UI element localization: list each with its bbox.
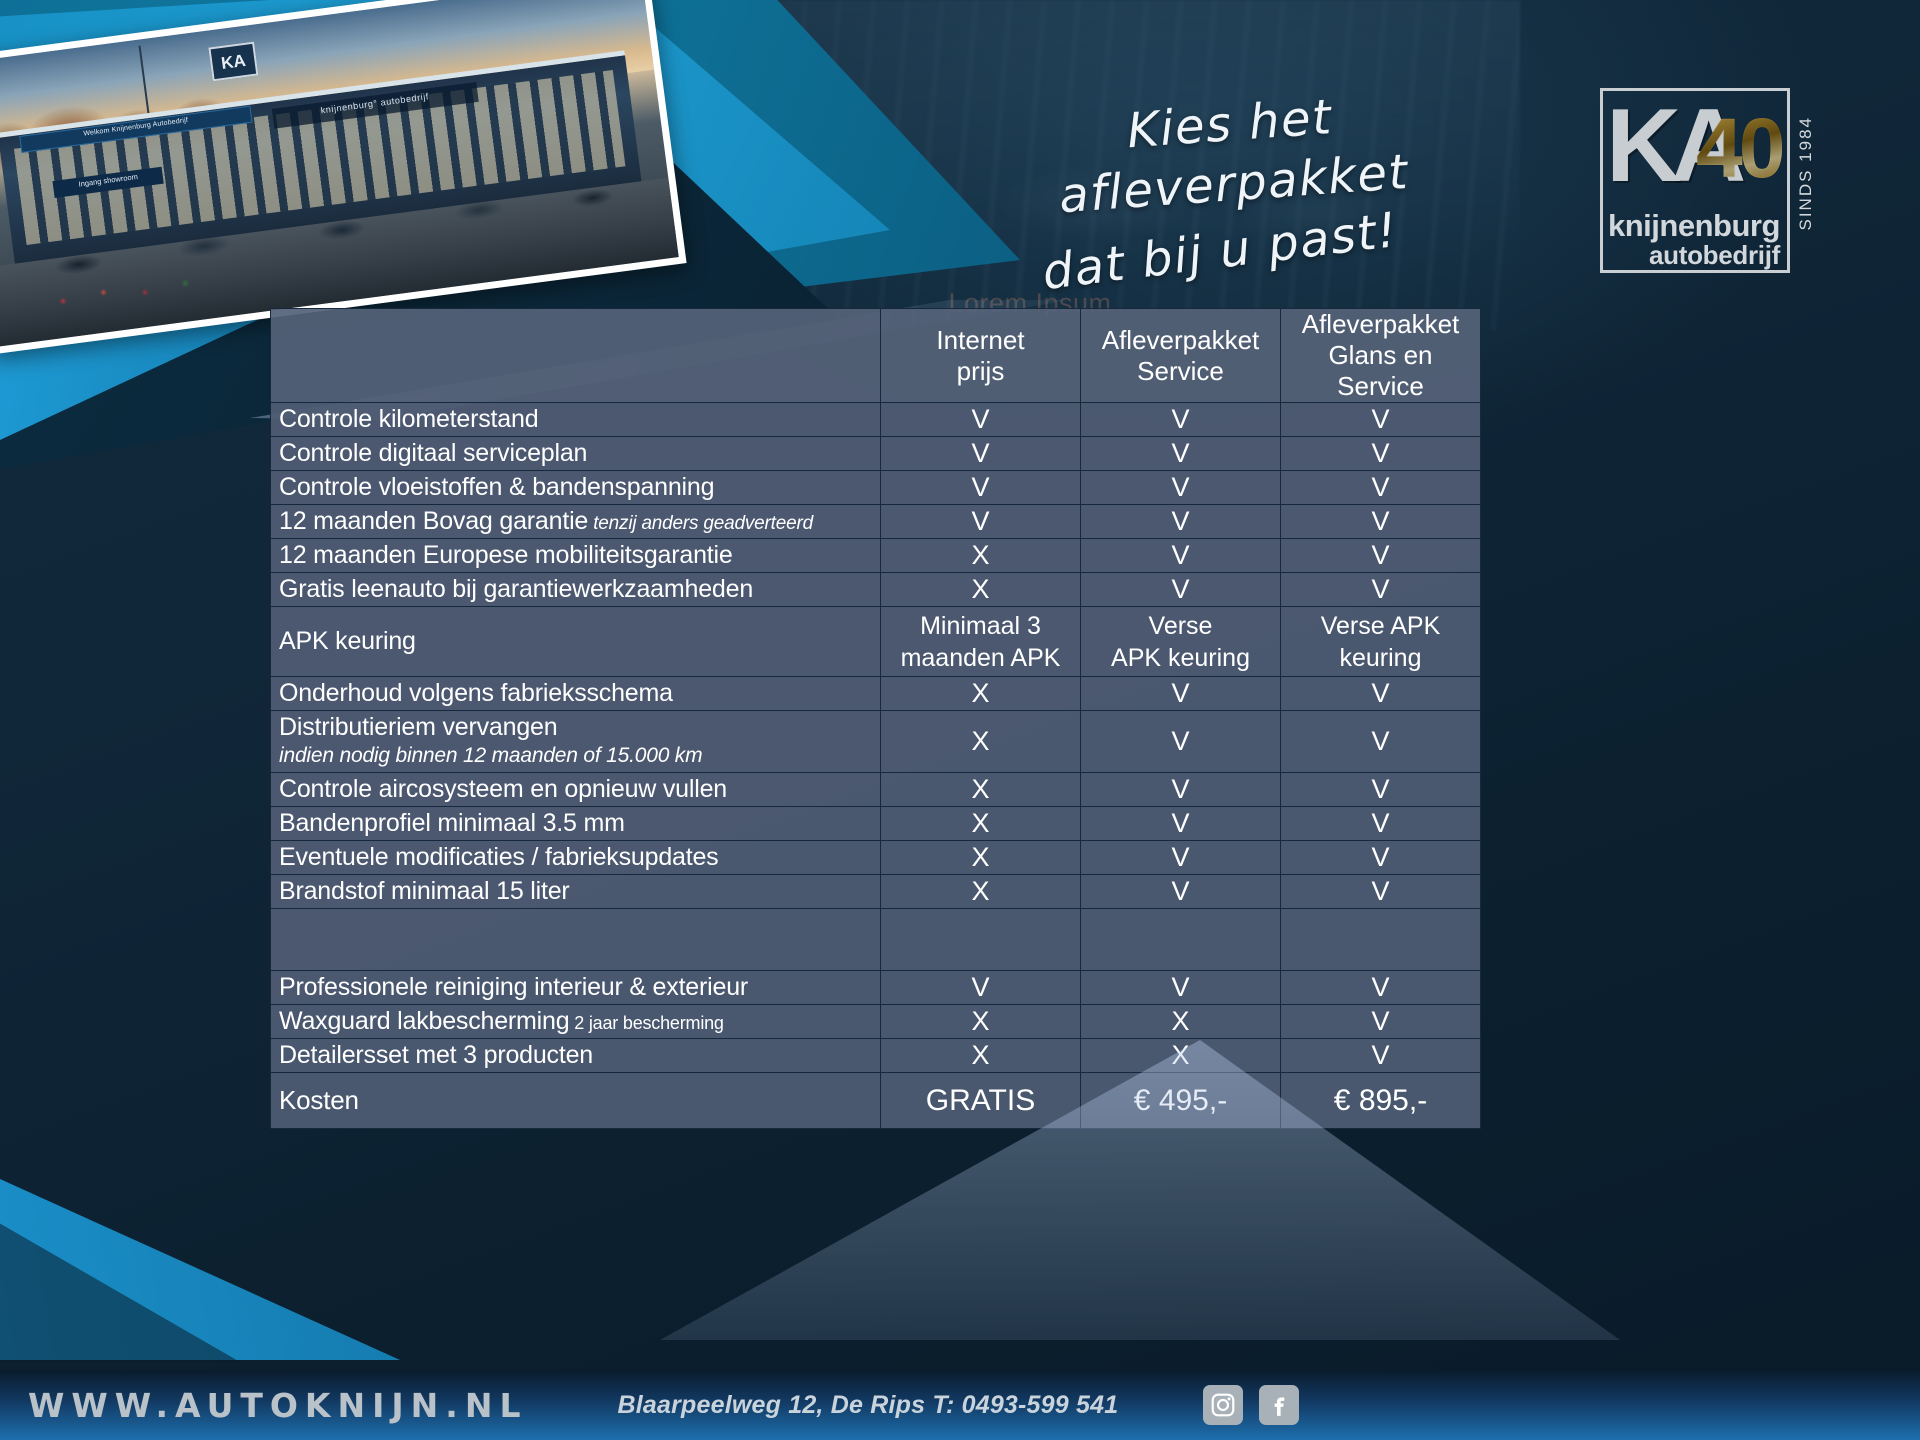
- table-row-label: Professionele reiniging interieur & exte…: [271, 971, 881, 1005]
- row-label-text: Gratis leenauto bij garantiewerkzaamhede…: [279, 575, 753, 603]
- cross-mark-cell: X: [881, 1005, 1081, 1039]
- logo-company-name: knijnenburg: [1608, 210, 1786, 242]
- row-label-text: Onderhoud volgens fabrieksschema: [279, 679, 673, 707]
- footer-address-phone: Blaarpeelweg 12, De Rips T: 0493-599 541: [617, 1391, 1118, 1420]
- row-label-text: Controle kilometerstand: [279, 405, 538, 433]
- row-label-text: Distributieriem vervangen: [279, 713, 557, 741]
- table-row: Controle aircosysteem en opnieuw vullenX…: [271, 773, 1481, 807]
- header-afleverpakket-service: Afleverpakket Service: [1081, 309, 1281, 403]
- table-row-label: Controle aircosysteem en opnieuw vullen: [271, 773, 881, 807]
- table-head: Internet prijs Afleverpakket Service Afl…: [271, 309, 1481, 403]
- header-internet-prijs-line1: Internet: [889, 325, 1072, 356]
- cross-mark-cell: X: [881, 773, 1081, 807]
- check-mark-cell: V: [1081, 505, 1281, 539]
- cross-mark-cell: X: [881, 711, 1081, 773]
- check-mark-cell: V: [1281, 807, 1481, 841]
- table-row-label: Distributieriem vervangenindien nodig bi…: [271, 711, 881, 773]
- cost-cell: GRATIS: [881, 1073, 1081, 1129]
- table-row: Onderhoud volgens fabrieksschemaXVV: [271, 677, 1481, 711]
- cross-mark-cell: X: [881, 807, 1081, 841]
- check-mark-cell: V: [1281, 971, 1481, 1005]
- table-row-label: Controle kilometerstand: [271, 403, 881, 437]
- table-row-label: Onderhoud volgens fabrieksschema: [271, 677, 881, 711]
- table-text-cell-line: maanden APK: [889, 642, 1072, 674]
- check-mark-cell: V: [1281, 1039, 1481, 1073]
- check-mark-cell: V: [1081, 403, 1281, 437]
- header-internet-prijs-line2: prijs: [889, 356, 1072, 387]
- row-label-text: Professionele reiniging interieur & exte…: [279, 973, 748, 1001]
- check-mark-cell: V: [1081, 539, 1281, 573]
- check-mark-cell: V: [1281, 471, 1481, 505]
- table-text-cell-line: keuring: [1289, 642, 1472, 674]
- header-glans-line1: Afleverpakket: [1289, 309, 1472, 340]
- table-row: Eventuele modificaties / fabrieksupdates…: [271, 841, 1481, 875]
- footer-social-links: [1203, 1385, 1299, 1425]
- table-row: Waxguard lakbescherming 2 jaar beschermi…: [271, 1005, 1481, 1039]
- check-mark-cell: V: [1281, 505, 1481, 539]
- check-mark-cell: V: [1081, 573, 1281, 607]
- cross-mark-cell: X: [881, 1039, 1081, 1073]
- header-afleverpakket-service-line1: Afleverpakket: [1089, 325, 1272, 356]
- check-mark-cell: V: [1281, 437, 1481, 471]
- table-row-label: Controle vloeistoffen & bandenspanning: [271, 471, 881, 505]
- cost-cell: € 895,-: [1281, 1073, 1481, 1129]
- table-row: Controle digitaal serviceplanVVV: [271, 437, 1481, 471]
- table-body: Controle kilometerstandVVVControle digit…: [271, 403, 1481, 1129]
- photo-ka-logo: KA: [208, 42, 258, 82]
- header-glans-line2: Glans en Service: [1289, 340, 1472, 402]
- check-mark-cell: V: [1081, 677, 1281, 711]
- table-row: Detailersset met 3 productenXXV: [271, 1039, 1481, 1073]
- row-label-text: Controle aircosysteem en opnieuw vullen: [279, 775, 727, 803]
- check-mark-cell: V: [1081, 711, 1281, 773]
- row-label-text: Detailersset met 3 producten: [279, 1041, 593, 1069]
- table-row-label: [271, 909, 881, 971]
- table-cost-row: KostenGRATIS€ 495,-€ 895,-: [271, 1073, 1481, 1129]
- check-mark-cell: V: [1081, 471, 1281, 505]
- header-afleverpakket-service-line2: Service: [1089, 356, 1272, 387]
- table-row: [271, 909, 1481, 971]
- row-label-text: Eventuele modificaties / fabrieksupdates: [279, 843, 718, 871]
- check-mark-cell: V: [1281, 677, 1481, 711]
- cross-mark-cell: X: [881, 875, 1081, 909]
- table-row-label: 12 maanden Europese mobiliteitsgarantie: [271, 539, 881, 573]
- table-text-cell: Verse APKkeuring: [1281, 607, 1481, 677]
- table-row-label: Bandenprofiel minimaal 3.5 mm: [271, 807, 881, 841]
- table-row: Professionele reiniging interieur & exte…: [271, 971, 1481, 1005]
- table-row-label: Waxguard lakbescherming 2 jaar beschermi…: [271, 1005, 881, 1039]
- table-row: Controle vloeistoffen & bandenspanningVV…: [271, 471, 1481, 505]
- table-row: 12 maanden Europese mobiliteitsgarantieX…: [271, 539, 1481, 573]
- table-row-label: Brandstof minimaal 15 liter: [271, 875, 881, 909]
- row-label-text: Controle vloeistoffen & bandenspanning: [279, 473, 714, 501]
- table-row: Bandenprofiel minimaal 3.5 mmXVV: [271, 807, 1481, 841]
- table-text-cell-line: Verse: [1089, 610, 1272, 642]
- cross-mark-cell: X: [881, 573, 1081, 607]
- row-label-text: Bandenprofiel minimaal 3.5 mm: [279, 809, 625, 837]
- footer-website-url[interactable]: WWW.AUTOKNIJN.NL: [28, 1386, 527, 1425]
- row-label-note: 2 jaar bescherming: [569, 1013, 723, 1033]
- check-mark-cell: V: [1281, 573, 1481, 607]
- empty-cell: [1281, 909, 1481, 971]
- table-text-cell: Minimaal 3maanden APK: [881, 607, 1081, 677]
- check-mark-cell: V: [1081, 875, 1281, 909]
- header-blank-cell: [271, 309, 881, 403]
- check-mark-cell: V: [1281, 1005, 1481, 1039]
- check-mark-cell: V: [881, 403, 1081, 437]
- row-label-text: Waxguard lakbescherming: [279, 1007, 569, 1035]
- header-internet-prijs: Internet prijs: [881, 309, 1081, 403]
- table-row: Distributieriem vervangenindien nodig bi…: [271, 711, 1481, 773]
- table-row: 12 maanden Bovag garantie tenzij anders …: [271, 505, 1481, 539]
- row-label-text: Controle digitaal serviceplan: [279, 439, 587, 467]
- check-mark-cell: V: [1081, 971, 1281, 1005]
- cost-cell: € 495,-: [1081, 1073, 1281, 1129]
- cross-mark-cell: X: [881, 677, 1081, 711]
- check-mark-cell: V: [1081, 841, 1281, 875]
- table-row-label: Eventuele modificaties / fabrieksupdates: [271, 841, 881, 875]
- header-afleverpakket-glans-service: Afleverpakket Glans en Service: [1281, 309, 1481, 403]
- cross-mark-cell: X: [1081, 1005, 1281, 1039]
- row-label-text: 12 maanden Europese mobiliteitsgarantie: [279, 541, 733, 569]
- check-mark-cell: V: [1281, 539, 1481, 573]
- logo-company-subtitle: autobedrijf: [1608, 242, 1786, 269]
- cross-mark-cell: X: [1081, 1039, 1281, 1073]
- table-row: Brandstof minimaal 15 literXVV: [271, 875, 1481, 909]
- table-row: Controle kilometerstandVVV: [271, 403, 1481, 437]
- cross-mark-cell: X: [881, 841, 1081, 875]
- check-mark-cell: V: [881, 505, 1081, 539]
- row-label-text: Brandstof minimaal 15 liter: [279, 877, 570, 905]
- table-row-label: Controle digitaal serviceplan: [271, 437, 881, 471]
- check-mark-cell: V: [881, 971, 1081, 1005]
- table-row: Gratis leenauto bij garantiewerkzaamhede…: [271, 573, 1481, 607]
- table-row-label: Gratis leenauto bij garantiewerkzaamhede…: [271, 573, 881, 607]
- footer-bar: WWW.AUTOKNIJN.NL Blaarpeelweg 12, De Rip…: [0, 1370, 1920, 1440]
- table-row-label: APK keuring: [271, 607, 881, 677]
- table-text-cell-line: Verse APK: [1289, 610, 1472, 642]
- table-text-cell-line: APK keuring: [1089, 642, 1272, 674]
- check-mark-cell: V: [1081, 773, 1281, 807]
- poster-canvas: Lorem Ipsum Welkom Knijnenburg Autobedri…: [0, 0, 1920, 1440]
- package-comparison-table: Internet prijs Afleverpakket Service Afl…: [270, 308, 1481, 1129]
- table-row-label: Detailersset met 3 producten: [271, 1039, 881, 1073]
- table-text-cell-line: Minimaal 3: [889, 610, 1072, 642]
- check-mark-cell: V: [1281, 773, 1481, 807]
- table-text-cell: VerseAPK keuring: [1081, 607, 1281, 677]
- table-row: APK keuringMinimaal 3maanden APKVerseAPK…: [271, 607, 1481, 677]
- row-label-note: tenzij anders geadverteerd: [588, 513, 813, 534]
- company-logo: KA 40 knijnenburg autobedrijf SINDS 1984: [1600, 88, 1830, 288]
- empty-cell: [1081, 909, 1281, 971]
- row-label-text: 12 maanden Bovag garantie: [279, 507, 588, 535]
- row-label-subtext: indien nodig binnen 12 maanden of 15.000…: [279, 742, 872, 770]
- check-mark-cell: V: [1281, 711, 1481, 773]
- table-row-label: 12 maanden Bovag garantie tenzij anders …: [271, 505, 881, 539]
- check-mark-cell: V: [1081, 437, 1281, 471]
- table-header-row: Internet prijs Afleverpakket Service Afl…: [271, 309, 1481, 403]
- logo-since-text: SINDS 1984: [1796, 116, 1816, 231]
- row-label-text: APK keuring: [279, 627, 416, 655]
- check-mark-cell: V: [1281, 875, 1481, 909]
- facebook-icon[interactable]: [1259, 1385, 1299, 1425]
- cost-row-label: Kosten: [271, 1073, 881, 1129]
- instagram-icon[interactable]: [1203, 1385, 1243, 1425]
- check-mark-cell: V: [1081, 807, 1281, 841]
- check-mark-cell: V: [1281, 403, 1481, 437]
- check-mark-cell: V: [881, 471, 1081, 505]
- check-mark-cell: V: [1281, 841, 1481, 875]
- cross-mark-cell: X: [881, 539, 1081, 573]
- check-mark-cell: V: [881, 437, 1081, 471]
- empty-cell: [881, 909, 1081, 971]
